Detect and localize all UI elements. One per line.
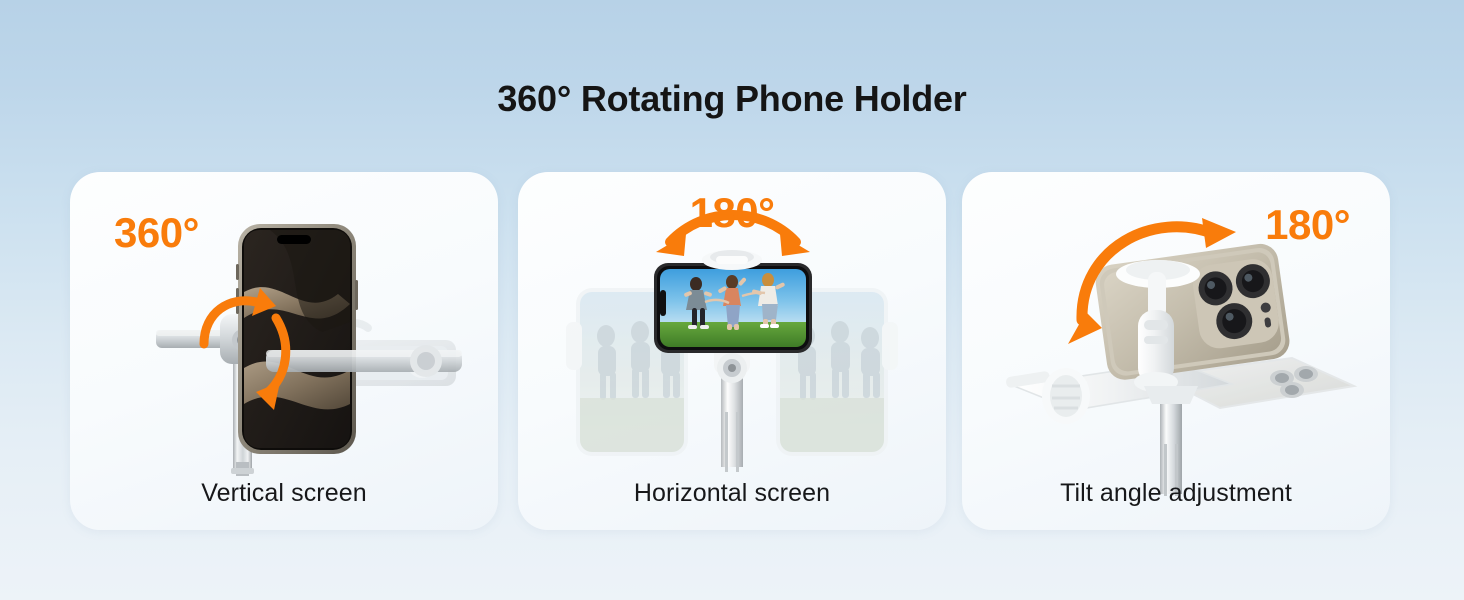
panel-tilt-angle: 180° Tilt angle adjustment xyxy=(962,172,1390,530)
page-title: 360° Rotating Phone Holder xyxy=(0,78,1464,120)
phone-tilted xyxy=(1093,242,1291,382)
panel-vertical-screen: 360° Vertical screen xyxy=(70,172,498,530)
angle-label-180-tilt: 180° xyxy=(1265,204,1350,246)
caption-tilt-angle: Tilt angle adjustment xyxy=(962,479,1390,508)
phone-portrait xyxy=(236,224,358,454)
infographic-root: 360° Rotating Phone Holder xyxy=(0,0,1464,600)
camera-module xyxy=(1190,257,1281,351)
angle-label-180-horizontal: 180° xyxy=(518,192,946,234)
caption-vertical-screen: Vertical screen xyxy=(70,479,498,508)
angle-label-360: 360° xyxy=(114,212,199,254)
panel-horizontal-screen: 180° Horizontal screen xyxy=(518,172,946,530)
top-clamp xyxy=(702,250,762,270)
caption-horizontal-screen: Horizontal screen xyxy=(518,479,946,508)
phone-landscape xyxy=(654,263,812,353)
